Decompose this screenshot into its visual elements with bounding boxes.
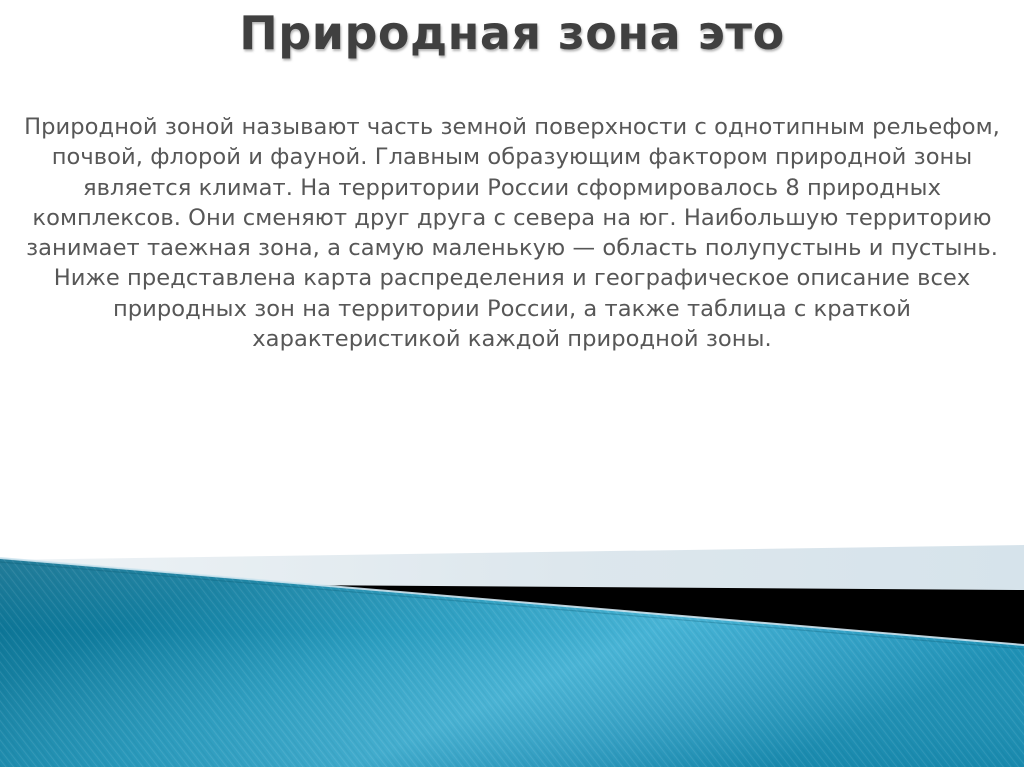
blue-band-shading: [0, 558, 1024, 767]
slide: Природная зона это Природной зоной назыв…: [0, 0, 1024, 767]
blue-band-highlight: [0, 558, 1024, 645]
black-wedge: [0, 583, 1024, 648]
blue-band-edge-shadow: [0, 562, 1024, 649]
page-title: Природная зона это: [0, 6, 1024, 60]
blue-band: [0, 558, 1024, 767]
blue-band-texture: [0, 540, 1024, 767]
body-paragraph: Природной зоной называют часть земной по…: [18, 112, 1006, 354]
pale-wedge: [0, 545, 1024, 592]
